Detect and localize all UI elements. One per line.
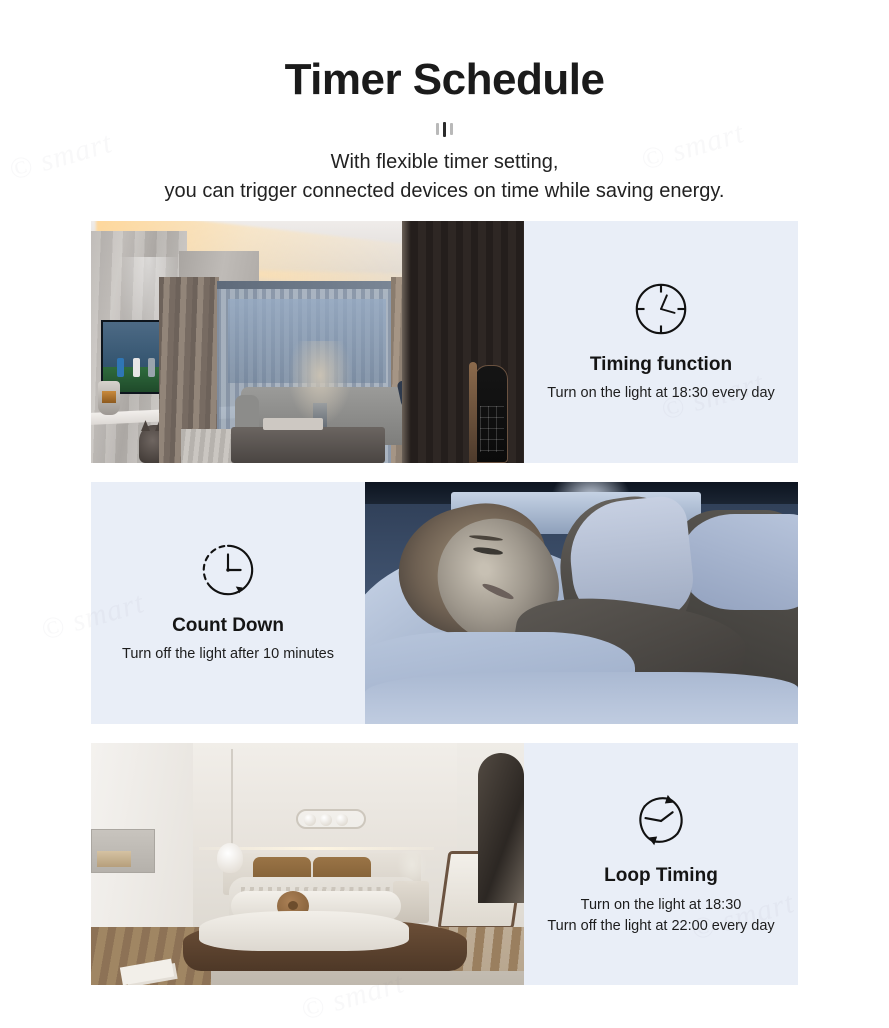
clock-icon <box>630 278 692 340</box>
count-down-panel: Count Down Turn off the light after 10 m… <box>91 482 365 724</box>
page-title: Timer Schedule <box>0 56 889 104</box>
timing-function-panel: Timing function Turn on the light at 18:… <box>524 221 798 463</box>
feature-title: Count Down <box>172 615 284 638</box>
loop-clock-icon <box>630 789 692 851</box>
page-subtitle-line-1: With flexible timer setting, <box>0 148 889 176</box>
feature-list: Timing function Turn on the light at 18:… <box>0 221 889 985</box>
feature-title: Timing function <box>590 354 732 377</box>
page-subtitle-line-2: you can trigger connected devices on tim… <box>0 177 889 205</box>
loop-timing-panel: Loop Timing Turn on the light at 18:30 T… <box>524 743 798 985</box>
feature-card-count-down: Count Down Turn off the light after 10 m… <box>91 482 798 724</box>
page-header: Timer Schedule With flexible timer setti… <box>0 0 889 205</box>
countdown-clock-icon <box>197 539 259 601</box>
feature-card-loop-timing: Loop Timing Turn on the light at 18:30 T… <box>91 743 798 985</box>
divider-bar-right <box>450 123 453 135</box>
feature-description: Turn off the light after 10 minutes <box>122 644 334 665</box>
feature-description: Turn on the light at 18:30 Turn off the … <box>547 895 774 937</box>
divider-bar-left <box>436 123 439 135</box>
divider-bar-center <box>443 122 446 137</box>
page-subtitle: With flexible timer setting, you can tri… <box>0 148 889 205</box>
feature-description: Turn on the light at 18:30 every day <box>547 383 775 404</box>
feature-title: Loop Timing <box>604 865 718 888</box>
bedroom-photo <box>91 743 524 985</box>
living-room-photo <box>91 221 524 463</box>
feature-card-timing-function: Timing function Turn on the light at 18:… <box>91 221 798 463</box>
sleeping-woman-photo <box>365 482 798 724</box>
title-divider <box>0 118 889 140</box>
smart-door-lock <box>474 365 508 463</box>
